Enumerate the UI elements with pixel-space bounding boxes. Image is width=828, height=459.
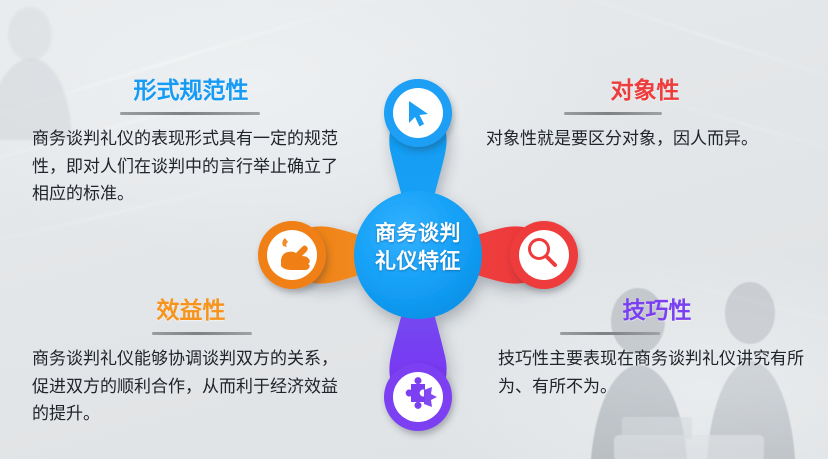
heading-technique: 技巧性 [498, 298, 816, 323]
node-bottom[interactable] [384, 363, 452, 431]
body-benefit: 商务谈判礼仪能够协调谈判双方的关系，促进双方的顺利合作，从而利于经济效益的提升。 [32, 346, 350, 429]
body-objectivity: 对象性就是要区分对象，因人而异。 [486, 126, 804, 154]
heading-rule [120, 112, 260, 115]
content-block-top-left: 形式规范性 商务谈判礼仪的表现形式具有一定的规范性，即对人们在谈判中的言行举止确… [32, 78, 350, 209]
node-right[interactable] [510, 221, 578, 289]
node-left[interactable] [258, 221, 326, 289]
node-top[interactable] [384, 79, 452, 147]
content-block-top-right: 对象性 对象性就是要区分对象，因人而异。 [486, 78, 804, 154]
slide-canvas: 商务谈判 礼仪特征 形式规范性 商务谈判礼仪的表现形式具有一定的规范性，即对人们… [0, 0, 828, 459]
heading-objectivity: 对象性 [486, 78, 804, 103]
body-technique: 技巧性主要表现在商务谈判礼仪讲究有所为、有所不为。 [498, 346, 816, 401]
hub-circle [354, 191, 482, 319]
heading-rule [152, 332, 252, 335]
heading-rule [564, 112, 662, 115]
content-block-bottom-left: 效益性 商务谈判礼仪能够协调谈判双方的关系，促进双方的顺利合作，从而利于经济效益… [32, 298, 350, 429]
heading-benefit: 效益性 [32, 298, 350, 323]
content-block-bottom-right: 技巧性 技巧性主要表现在商务谈判礼仪讲究有所为、有所不为。 [498, 298, 816, 401]
heading-rule [560, 332, 660, 335]
heading-form-normativity: 形式规范性 [32, 78, 350, 103]
body-form-normativity: 商务谈判礼仪的表现形式具有一定的规范性，即对人们在谈判中的言行举止确立了相应的标… [32, 126, 350, 209]
